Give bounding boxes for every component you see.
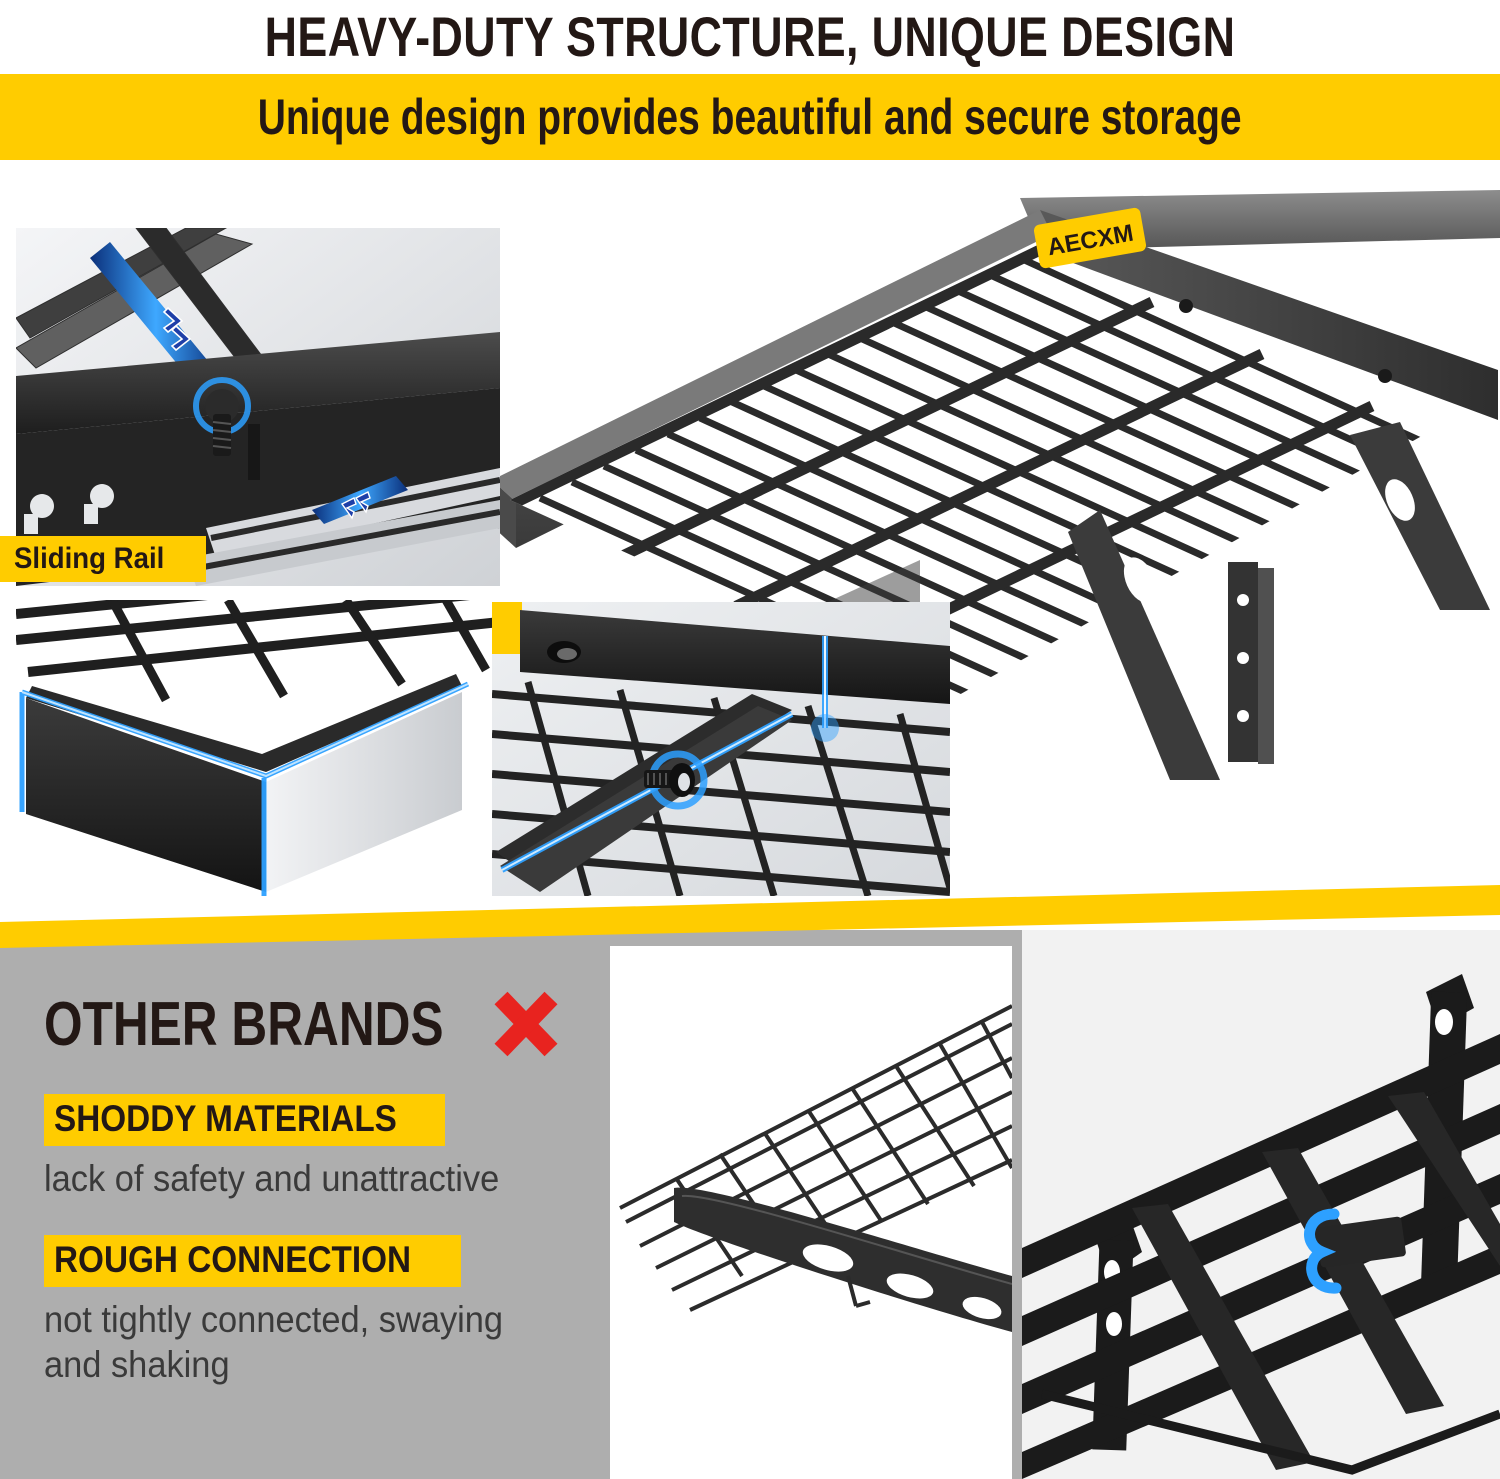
drawback-item-1: SHODDY MATERIALS lack of safety and unat…	[44, 1094, 584, 1201]
sliding-rail-label-text: Sliding Rail	[14, 542, 164, 576]
sliding-rail-illustration	[16, 228, 500, 586]
subtitle-text: Unique design provides beautiful and sec…	[258, 88, 1242, 146]
red-x-icon	[487, 986, 565, 1062]
sliding-rail-label: Sliding Rail	[0, 536, 206, 582]
bolt-connection-closeup-image	[492, 602, 950, 896]
competitor-wire-mesh-image	[610, 946, 1012, 1479]
other-brands-text-block: OTHER BRANDS SHODDY MATERIALS lack of sa…	[44, 988, 584, 1387]
drawback-2-body: not tightly connected, swaying and shaki…	[44, 1297, 584, 1387]
page-title: HEAVY-DUTY STRUCTURE, UNIQUE DESIGN	[150, 0, 1350, 74]
beveled-edge-closeup-image	[16, 600, 500, 896]
other-brands-section: OTHER BRANDS SHODDY MATERIALS lack of sa…	[0, 930, 1500, 1479]
infographic-stage: HEAVY-DUTY STRUCTURE, UNIQUE DESIGN Uniq…	[0, 0, 1500, 1479]
subtitle-banner: Unique design provides beautiful and sec…	[0, 74, 1500, 160]
drawback-2-heading: ROUGH CONNECTION	[44, 1235, 461, 1287]
flat-bar-frame-illustration	[1022, 930, 1500, 1479]
other-brands-title-row: OTHER BRANDS	[44, 988, 584, 1060]
drawback-1-heading: SHODDY MATERIALS	[44, 1094, 445, 1146]
competitor-flat-bar-frame-image	[1022, 930, 1500, 1479]
beveled-edge-illustration	[16, 600, 500, 896]
drawback-item-2: ROUGH CONNECTION not tightly connected, …	[44, 1235, 584, 1387]
drawback-1-body: lack of safety and unattractive	[44, 1156, 584, 1201]
bolt-connection-illustration	[492, 602, 950, 896]
sliding-rail-closeup-image	[16, 228, 500, 586]
other-brands-title: OTHER BRANDS	[44, 989, 444, 1060]
wire-mesh-illustration	[610, 946, 1012, 1479]
